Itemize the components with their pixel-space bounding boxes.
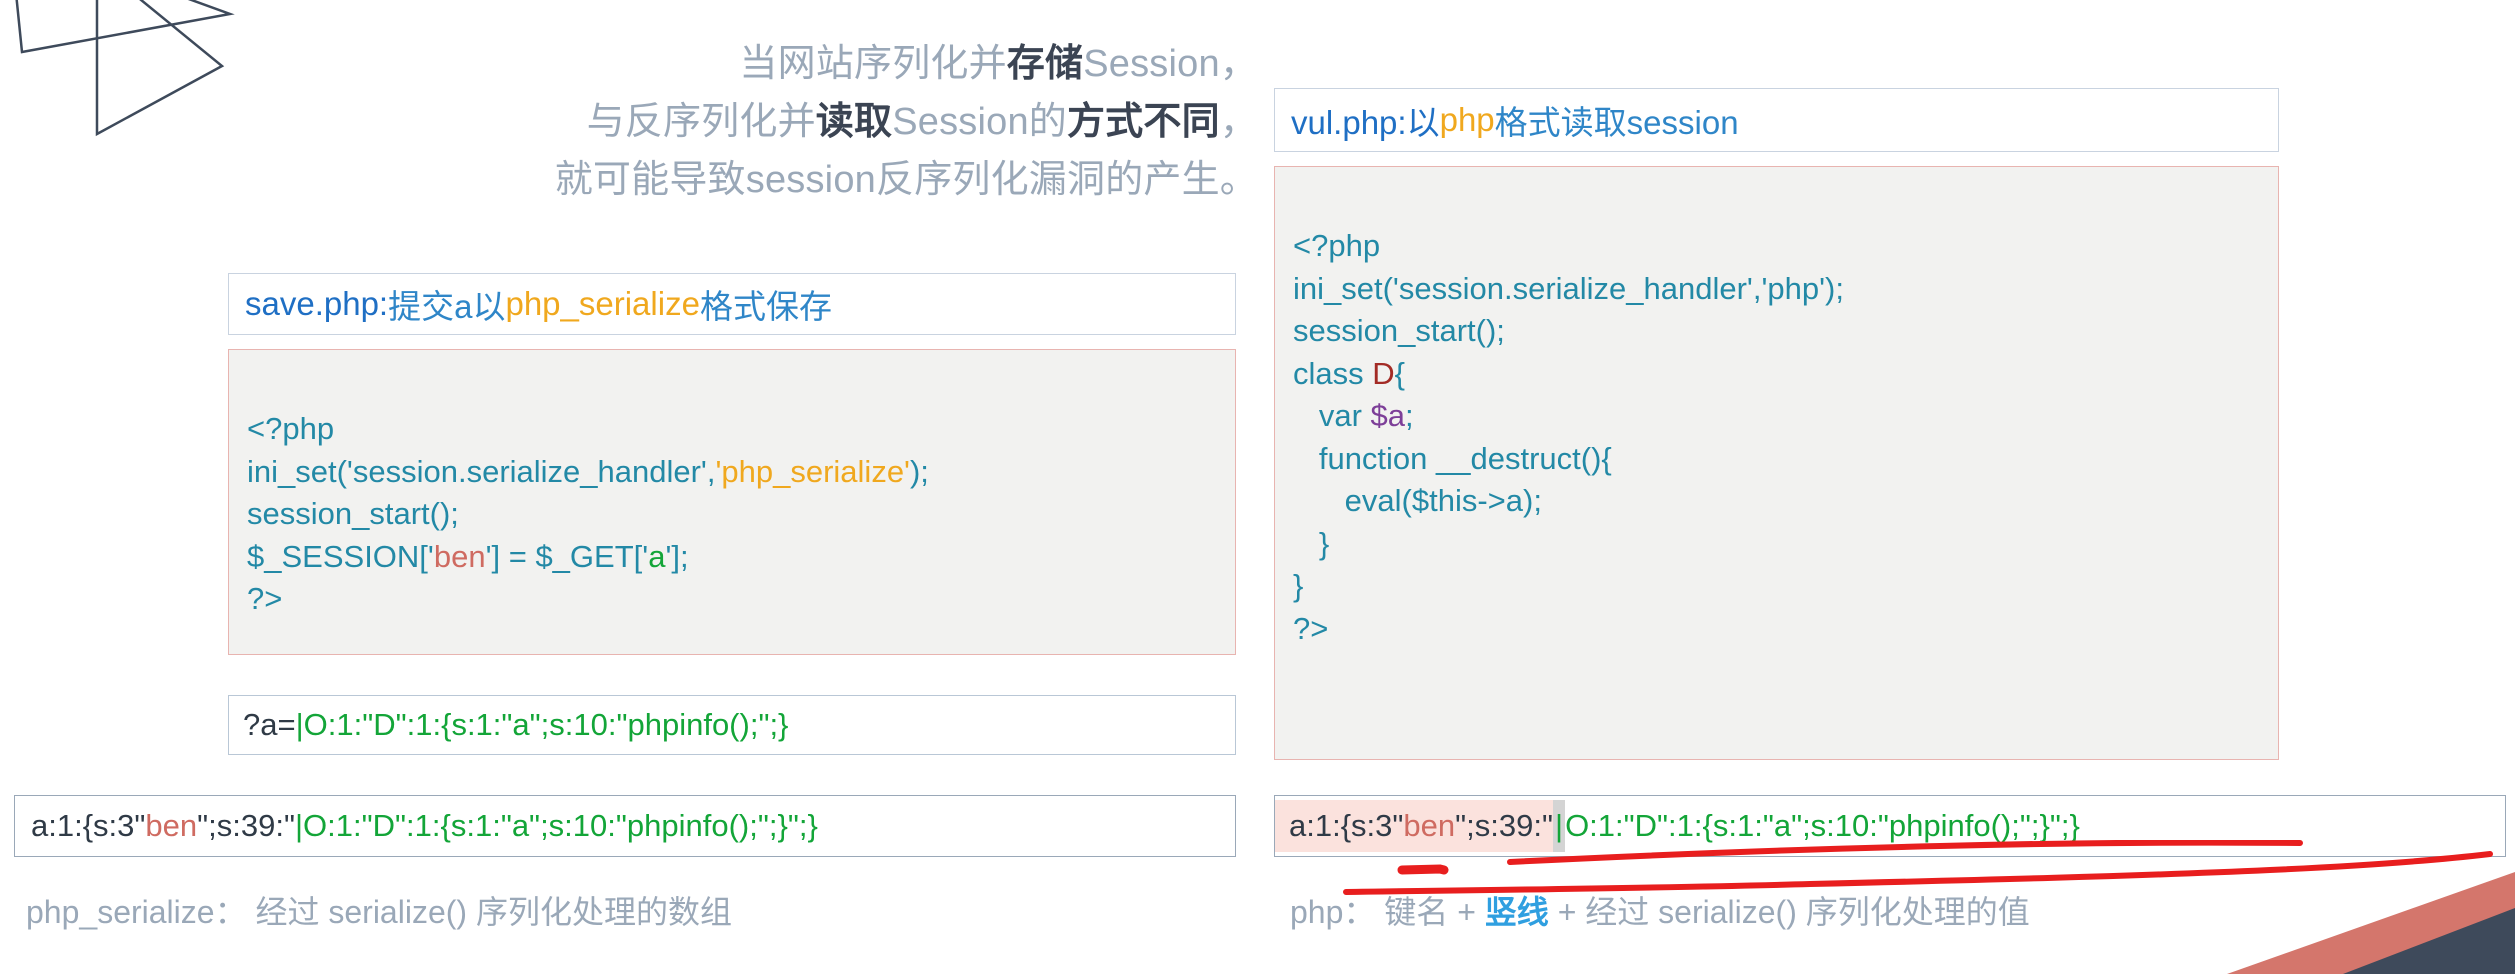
corner-ribbon-decoration [2215,864,2515,974]
right-result-bar: a:1:{s:3"ben";s:39:"|O:1:"D":1:{s:1:"a";… [1274,795,2506,857]
triangle-outline-logo [0,0,240,144]
right-caption-part1: 键名 [1384,894,1448,930]
right-caption-sp0 [1375,894,1384,930]
right-code-var-name: $a [1371,398,1405,433]
right-panel-title: vul.php:以php格式读取session [1274,88,2279,152]
right-caption-part2: 经过 serialize() 序列化处理的值 [1585,894,2029,930]
right-code-line-6: function __destruct(){ [1293,441,1612,476]
left-result-mid: ";s:39:" [197,808,295,844]
right-code-class-name: D [1372,356,1394,391]
heading-line-2-part-4: 的 [1029,101,1067,143]
left-title-highlight: php_serialize [505,285,699,323]
right-code-line-3: session_start(); [1293,313,1505,348]
heading-line-1-part-3: Session， [1083,43,1258,85]
right-result-key: ben [1403,808,1455,843]
left-payload-box: ?a=|O:1:"D":1:{s:1:"a";s:10:"phpinfo();"… [228,695,1236,755]
heading-line-1-part-1: 当网站序列化并 [739,43,1006,85]
heading-line-2-part-6: ， [1220,101,1258,143]
left-result-payload: |O:1:"D":1:{s:1:"a";s:10:"phpinfo();";}"… [295,808,818,844]
heading-line-1-part-2: 存储 [1007,43,1083,85]
right-code-line-4a: class [1293,356,1372,391]
left-result-key: ben [145,808,197,844]
heading-line-2: 与反序列化并读取Session的方式不同， [388,94,1258,152]
heading-line-1: 当网站序列化并存储Session， [388,36,1258,94]
right-code-line-8: } [1293,526,1329,561]
right-caption-name: php： [1290,894,1375,930]
right-caption: php： 键名 + 竖线 + 经过 serialize() 序列化处理的值 [1290,887,2030,933]
right-code-block: <?php ini_set('session.serialize_handler… [1274,166,2279,760]
left-code-line-4e: ']; [665,539,688,574]
slide-heading: 当网站序列化并存储Session， 与反序列化并读取Session的方式不同， … [388,36,1258,209]
heading-line-3-part-1: 就可能导致 [555,159,746,201]
left-code-line-4b: ben [434,539,486,574]
right-code-line-2: ini_set('session.serialize_handler','php… [1293,271,1844,306]
left-code-line-4d: a [648,539,665,574]
left-code-line-1: <?php [247,411,334,446]
right-result-mid: ";s:39:" [1455,808,1553,843]
slide-canvas: 当网站序列化并存储Session， 与反序列化并读取Session的方式不同， … [0,0,2515,974]
heading-line-2-part-1: 与反序列化并 [587,101,816,143]
left-code-line-2a: ini_set('session.serialize_handler', [247,454,715,489]
left-code-line-2b: 'php_serialize' [715,454,910,489]
right-result-highlight-prefix: a:1:{s:3"ben";s:39:" [1275,800,1553,852]
right-code-line-5a: var [1293,398,1371,433]
right-code-line-7: eval($this->a); [1293,483,1542,518]
right-code-line-10: ?> [1293,611,1328,646]
right-caption-plus2: + [1549,894,1585,930]
left-payload-value: |O:1:"D":1:{s:1:"a";s:10:"phpinfo();";} [296,707,789,743]
right-code-line-1: <?php [1293,228,1380,263]
left-code-line-4c: '] = $_GET[' [486,539,649,574]
heading-line-2-part-3: Session [892,101,1029,143]
left-title-mid: 提交a以 [388,280,505,328]
heading-line-2-part-2: 读取 [816,101,892,143]
right-result-pipe: | [1555,808,1563,843]
right-result-payload: O:1:"D":1:{s:1:"a";s:10:"phpinfo();";}";… [1565,800,2080,852]
right-code-line-5c: ; [1405,398,1414,433]
left-title-tail: 格式保存 [700,280,832,328]
right-caption-plus1: + [1448,894,1484,930]
heading-line-3: 就可能导致session反序列化漏洞的产生。 [388,152,1258,210]
right-code-line-9: } [1293,568,1303,603]
right-result-pipe-separator: | [1553,800,1565,852]
left-code-line-3: session_start(); [247,496,459,531]
left-code-block: <?php ini_set('session.serialize_handler… [228,349,1236,655]
left-code-line-2c: ); [910,454,929,489]
left-payload-prefix: ?a= [243,707,296,743]
left-panel-title: save.php:提交a以php_serialize格式保存 [228,273,1236,335]
heading-line-3-part-2: session反序列化漏洞的产生。 [746,159,1258,201]
left-caption-name: php_serialize： [26,894,247,930]
left-code-line-4a: $_SESSION[' [247,539,434,574]
right-title-highlight: php [1440,101,1495,139]
left-caption-desc: 经过 serialize() 序列化处理的数组 [255,894,731,930]
right-title-file: vul.php:以 [1291,96,1440,144]
left-title-file: save.php: [245,285,388,323]
left-result-bar: a:1:{s:3"ben";s:39:"|O:1:"D":1:{s:1:"a";… [14,795,1236,857]
right-caption-accent: 竖线 [1485,894,1549,930]
left-caption: php_serialize： 经过 serialize() 序列化处理的数组 [26,887,732,933]
heading-line-2-part-5: 方式不同 [1067,101,1220,143]
left-code-line-5: ?> [247,581,282,616]
right-result-prefix: a:1:{s:3" [1289,808,1403,843]
right-code-line-4c: { [1395,356,1405,391]
right-title-tail: 格式读取session [1495,96,1739,144]
left-result-prefix: a:1:{s:3" [31,808,145,844]
